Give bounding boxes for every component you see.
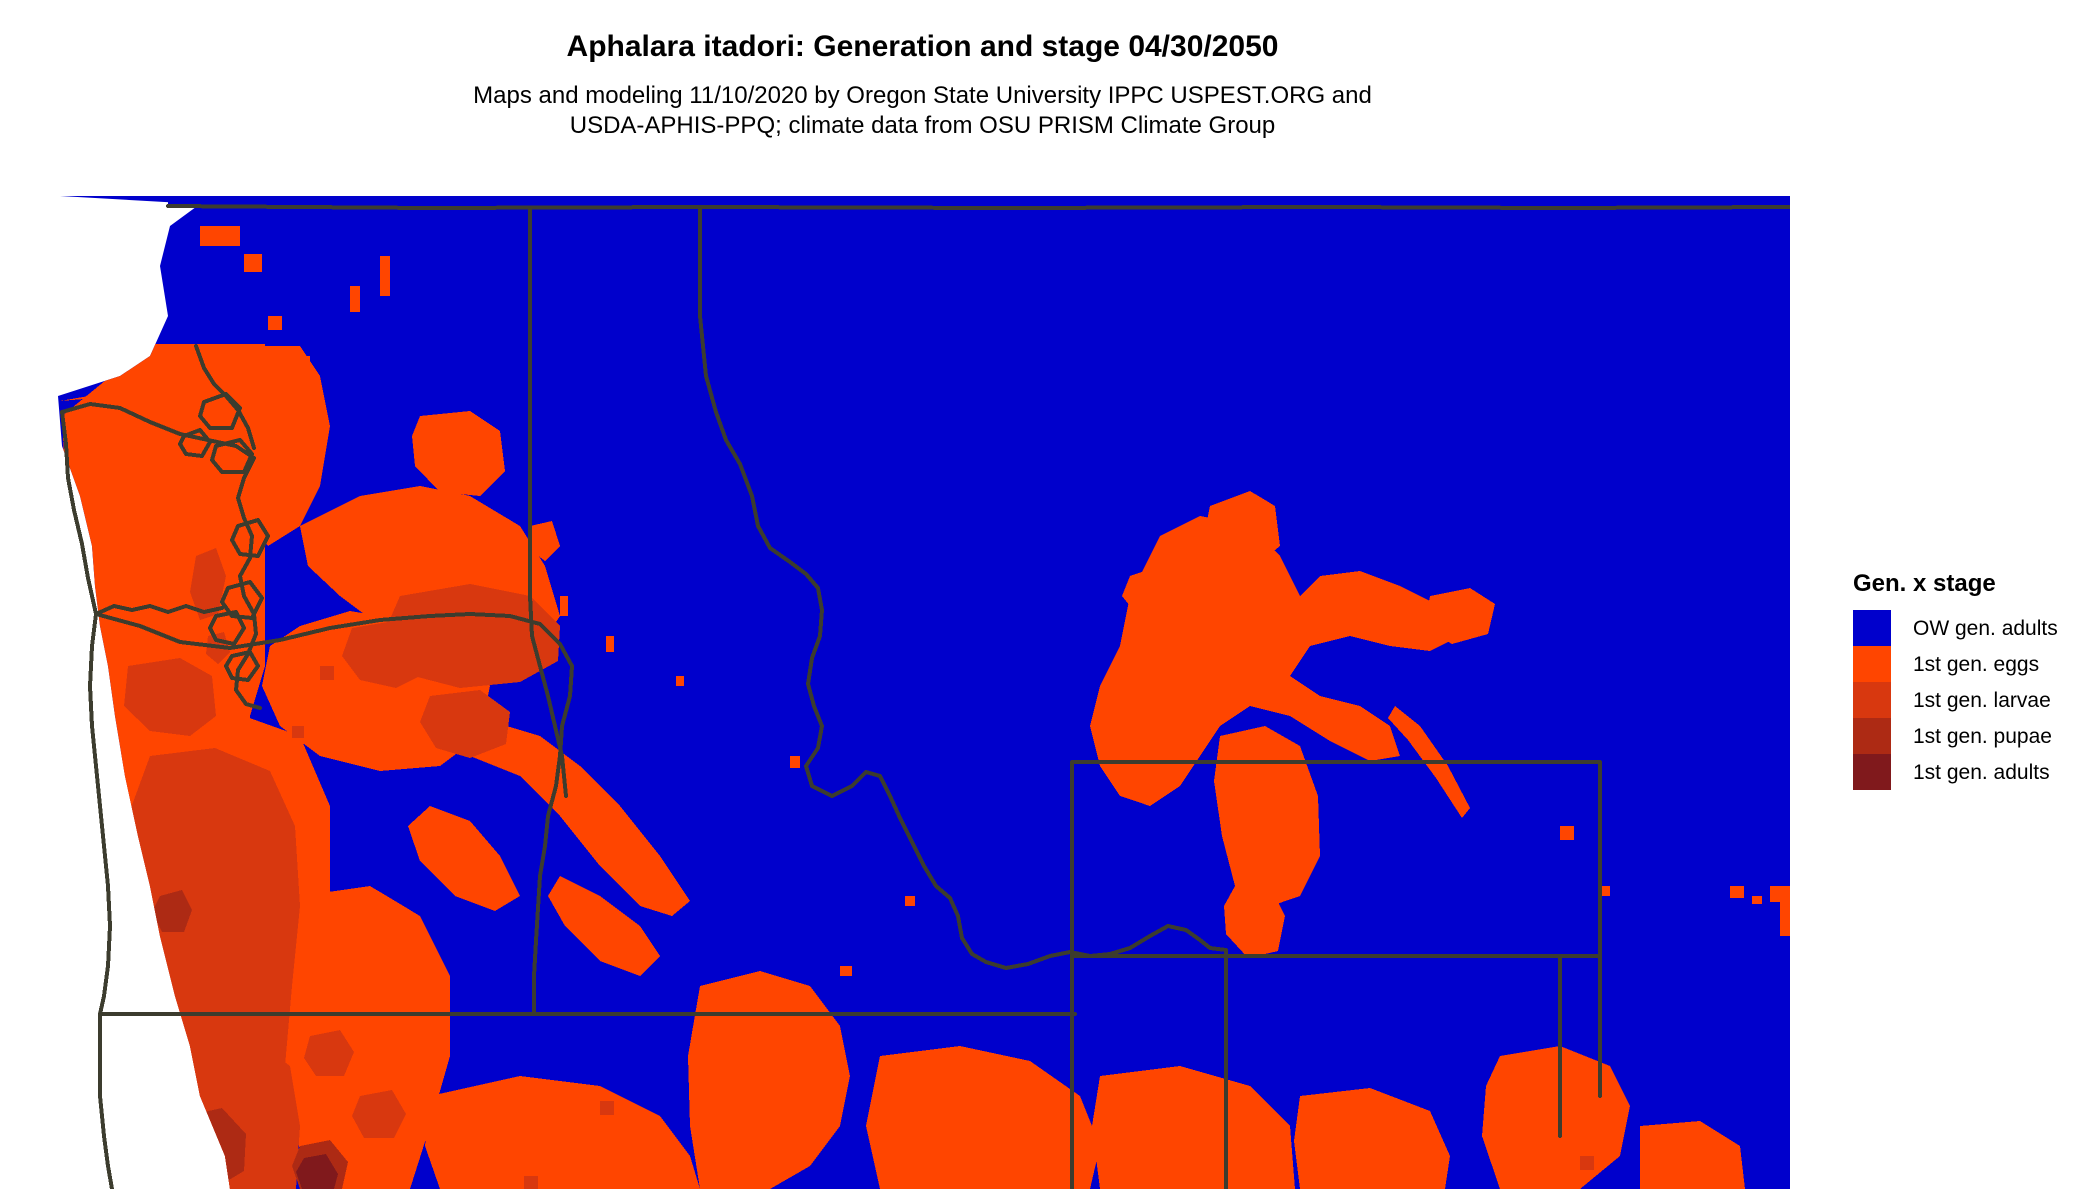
map-legend: Gen. x stage OW gen. adults 1st gen. egg… [1845,570,2100,790]
legend-title: Gen. x stage [1845,570,2100,598]
legend-item-label: 1st gen. adults [1891,762,2050,783]
legend-item-label: 1st gen. larvae [1891,690,2051,711]
legend-item-1st-gen-adults[interactable]: 1st gen. adults [1845,754,2100,790]
subtitle-line-2: USDA-APHIS-PPQ; climate data from OSU PR… [333,111,1513,141]
page-title: Aphalara itadori: Generation and stage 0… [0,0,1845,65]
legend-item-1st-gen-larvae[interactable]: 1st gen. larvae [1845,682,2100,718]
map-subtitle: Maps and modeling 11/10/2020 by Oregon S… [333,65,1513,141]
legend-swatch-icon [1853,718,1891,754]
map-raster[interactable] [0,196,1845,1189]
legend-item-1st-gen-eggs[interactable]: 1st gen. eggs [1845,646,2100,682]
legend-swatch-icon [1853,646,1891,682]
legend-item-label: OW gen. adults [1891,618,2058,639]
legend-items: OW gen. adults 1st gen. eggs 1st gen. la… [1845,610,2100,790]
legend-swatch-icon [1853,682,1891,718]
legend-item-label: 1st gen. eggs [1891,654,2039,675]
legend-swatch-icon [1853,610,1891,646]
map-panel[interactable] [0,196,1845,1189]
legend-item-label: 1st gen. pupae [1891,726,2052,747]
map-header: Aphalara itadori: Generation and stage 0… [0,0,1845,196]
legend-item-ow-gen-adults[interactable]: OW gen. adults [1845,610,2100,646]
legend-item-1st-gen-pupae[interactable]: 1st gen. pupae [1845,718,2100,754]
subtitle-line-1: Maps and modeling 11/10/2020 by Oregon S… [333,81,1513,111]
legend-swatch-icon [1853,754,1891,790]
